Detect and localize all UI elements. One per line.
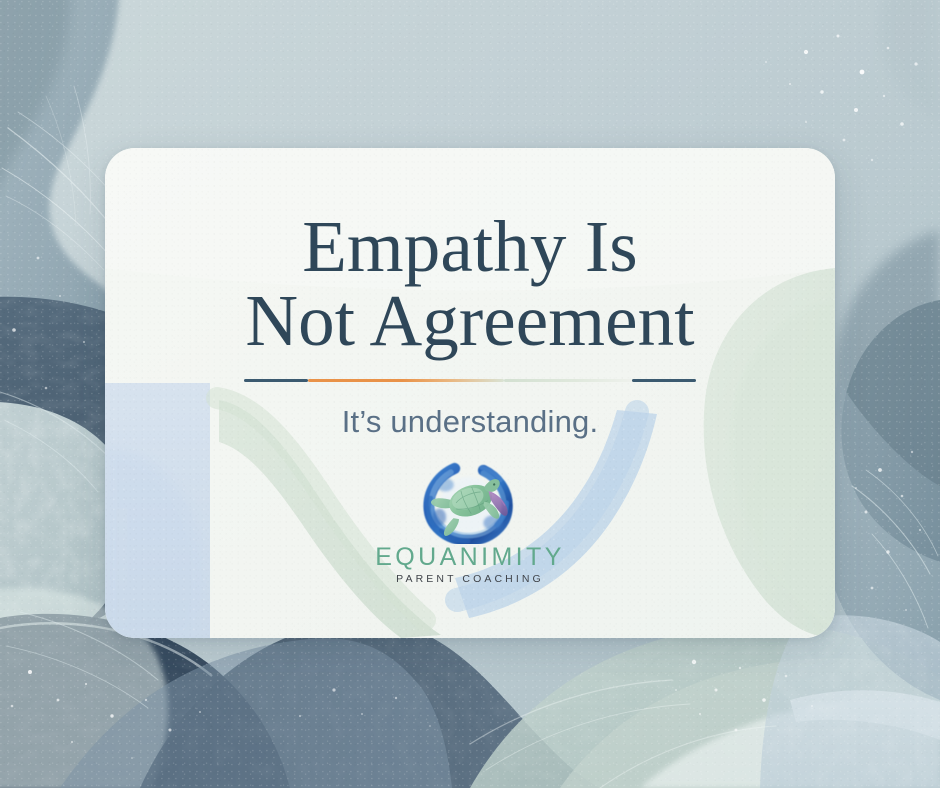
social-graphic-canvas: Empathy Is Not Agreement It’s understand… bbox=[0, 0, 940, 788]
quote-card: Empathy Is Not Agreement It’s understand… bbox=[105, 148, 835, 638]
headline: Empathy Is Not Agreement bbox=[245, 148, 694, 359]
divider-segment-navy-right bbox=[632, 379, 696, 382]
subtitle: It’s understanding. bbox=[342, 382, 599, 440]
divider-segment-navy-left bbox=[244, 379, 308, 382]
brand-name: EQUANIMITY bbox=[375, 545, 565, 570]
brand-logo: EQUANIMITY PARENT COACHING bbox=[375, 456, 565, 585]
brand-tagline: PARENT COACHING bbox=[396, 574, 544, 585]
headline-line-1: Empathy Is bbox=[245, 210, 694, 284]
headline-line-2: Not Agreement bbox=[245, 284, 694, 358]
card-content: Empathy Is Not Agreement It’s understand… bbox=[105, 148, 835, 638]
turtle-in-watercolor-circle-logo-icon bbox=[422, 456, 518, 544]
